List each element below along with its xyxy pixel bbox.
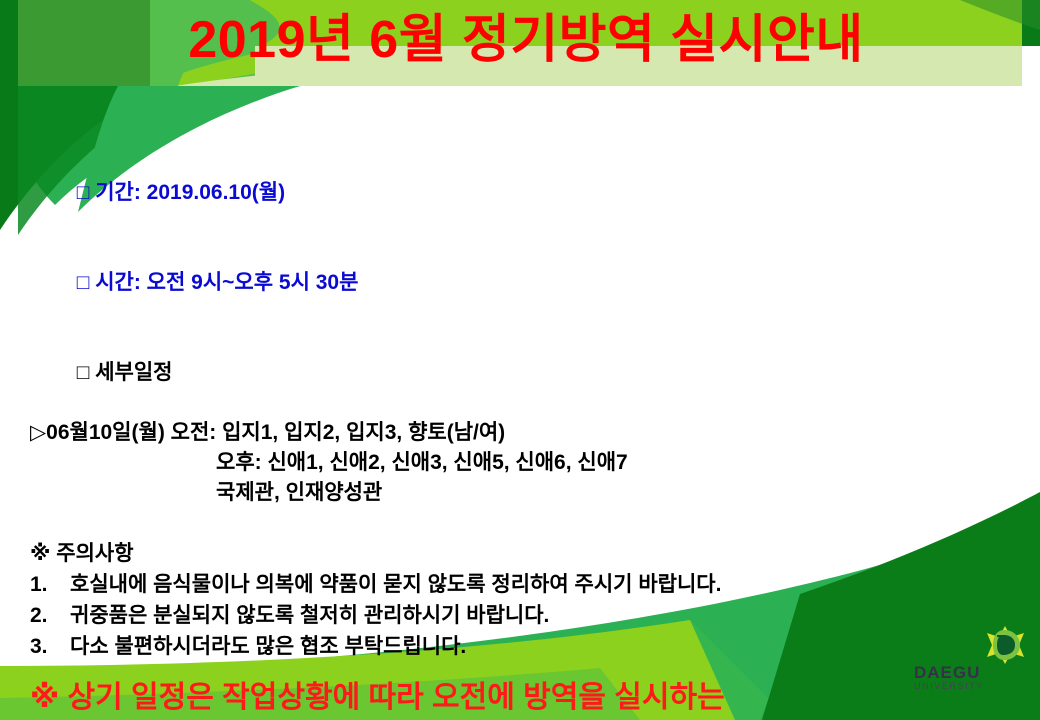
warning-section: ※ 상기 일정은 작업상황에 따라 오전에 방역을 실시하는 호관은 오후까지 … (30, 678, 1025, 720)
notice-heading: ※ 주의사항 (30, 538, 1025, 569)
info-line-detail-text: 세부일정 (89, 361, 172, 384)
notice-item: 1. 호실내에 음식물이나 의복에 약품이 묻지 않도록 정리하여 주시기 바랍… (30, 569, 1025, 600)
schedule-line-morning: ▷06월10일(월) 오전: 입지1, 입지2, 입지3, 향토(남/여) (30, 418, 1025, 448)
slide-title: 2019년 6월 정기방역 실시안내 (0, 0, 1040, 86)
notice-slide: 2019년 6월 정기방역 실시안내 □ 기간: 2019.06.10(월) □… (0, 0, 1040, 720)
info-line-period: □ 기간: 2019.06.10(월) (30, 148, 1025, 238)
notice-item-number: 3. (30, 631, 70, 662)
notice-item-number: 2. (30, 600, 70, 631)
square-bullet-icon: □ (77, 271, 90, 294)
notice-item: 3. 다소 불편하시더라도 많은 협조 부탁드립니다. (30, 631, 1025, 662)
notice-item-text: 귀중품은 분실되지 않도록 철저히 관리하시기 바랍니다. (70, 600, 549, 631)
notice-item: 2. 귀중품은 분실되지 않도록 철저히 관리하시기 바랍니다. (30, 600, 1025, 631)
info-list: □ 기간: 2019.06.10(월) □ 시간: 오전 9시~오후 5시 30… (30, 148, 1025, 418)
schedule-list: ▷06월10일(월) 오전: 입지1, 입지2, 입지3, 향토(남/여) 오후… (30, 418, 1025, 508)
page-title: 2019년 6월 정기방역 실시안내 (188, 14, 863, 66)
slide-body: □ 기간: 2019.06.10(월) □ 시간: 오전 9시~오후 5시 30… (30, 148, 1025, 720)
daegu-university-emblem-icon (984, 624, 1026, 666)
notice-item-number: 1. (30, 569, 70, 600)
notice-item-text: 호실내에 음식물이나 의복에 약품이 묻지 않도록 정리하여 주시기 바랍니다. (70, 569, 721, 600)
warning-line-1: ※ 상기 일정은 작업상황에 따라 오전에 방역을 실시하는 (30, 678, 1025, 718)
info-line-time: □ 시간: 오전 9시~오후 5시 30분 (30, 238, 1025, 328)
university-logo: DAEGU UNIVERSITY (914, 624, 1026, 694)
notice-item-text: 다소 불편하시더라도 많은 협조 부탁드립니다. (70, 631, 466, 662)
logo-wordmark: DAEGU UNIVERSITY (914, 664, 1006, 692)
logo-subtitle: UNIVERSITY (914, 681, 1006, 692)
info-line-period-text: 기간: 2019.06.10(월) (89, 181, 285, 204)
notice-section: ※ 주의사항 1. 호실내에 음식물이나 의복에 약품이 묻지 않도록 정리하여… (30, 538, 1025, 662)
square-bullet-icon: □ (77, 361, 90, 384)
logo-name: DAEGU (914, 664, 1006, 681)
schedule-line-afternoon: 오후: 신애1, 신애2, 신애3, 신애5, 신애6, 신애7 (30, 448, 1025, 478)
info-line-time-text: 시간: 오전 9시~오후 5시 30분 (89, 271, 358, 294)
info-line-detail-heading: □ 세부일정 (30, 328, 1025, 418)
square-bullet-icon: □ (77, 181, 90, 204)
schedule-line-afternoon-cont: 국제관, 인재양성관 (30, 478, 1025, 508)
